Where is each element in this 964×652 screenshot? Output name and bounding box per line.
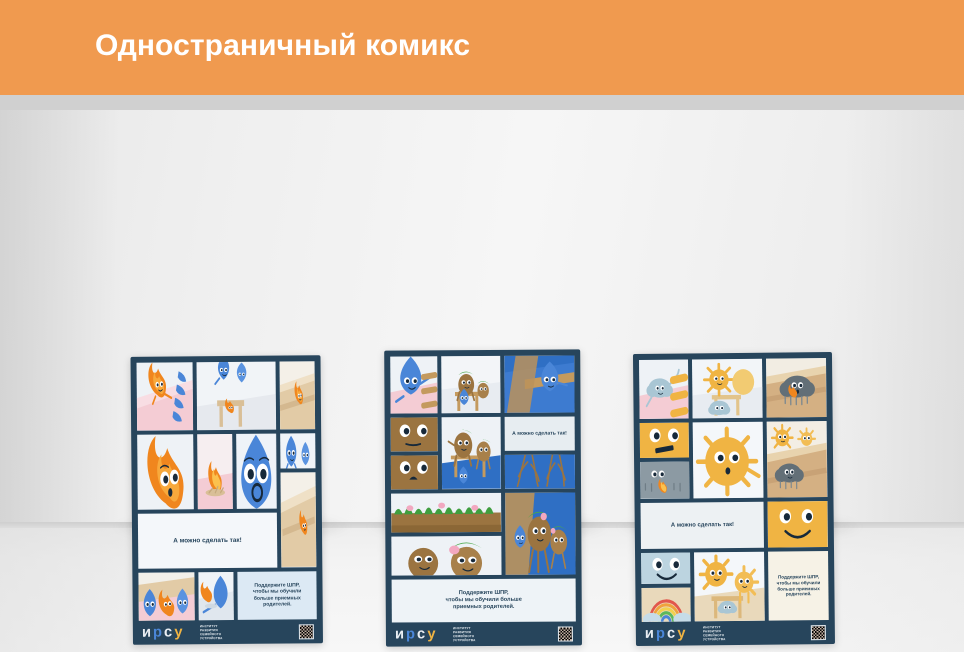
- poster-footer-3: и р с у Институт развитияСемейного устро…: [642, 620, 829, 646]
- comic-panel: [505, 492, 576, 575]
- header-divider: [0, 95, 964, 110]
- comic-panel: [692, 359, 763, 419]
- comic-speech-panel: А можно сделать так!: [641, 502, 765, 549]
- comic-panel: [279, 361, 315, 429]
- svg-text:р: р: [656, 626, 665, 642]
- comic-panel: [280, 433, 316, 469]
- comic-panel: [641, 587, 690, 622]
- comic-panel: [441, 356, 500, 414]
- wall-right-shadow: [844, 110, 964, 528]
- page-title: Одностраничный комикс: [95, 29, 470, 63]
- comic-panel: [137, 434, 194, 509]
- svg-text:и: и: [142, 625, 151, 641]
- speech-text: А можно сделать так!: [504, 417, 575, 451]
- brand-tagline-3: Институт развитияСемейного устройства: [703, 625, 731, 642]
- svg-text:р: р: [153, 625, 162, 641]
- irsu-logo-icon: и р с у: [142, 623, 195, 643]
- wall-left-shadow: [0, 110, 120, 528]
- comic-panel: [504, 355, 575, 413]
- brand-logo-3: и р с у Институт развитияСемейного устро…: [645, 623, 731, 643]
- cta-text: Поддержите ШПР, чтобы мы обучили больше …: [768, 551, 828, 621]
- comic-panel: [280, 472, 316, 567]
- comic-panel: [640, 422, 689, 458]
- comic-grid-2: А можно сделать так!: [390, 355, 576, 622]
- comic-panel: [391, 455, 438, 489]
- comic-speech-panel: А можно сделать так!: [138, 512, 277, 568]
- speech-text: А можно сделать так!: [138, 512, 277, 568]
- comic-panel: [766, 358, 826, 418]
- comic-panel: [639, 359, 689, 419]
- svg-text:у: у: [677, 626, 686, 642]
- comic-panel: [391, 493, 501, 533]
- brand-tagline-1: Институт развитияСемейного устройства: [200, 624, 228, 641]
- comic-panel: [197, 434, 233, 509]
- svg-text:с: с: [164, 625, 172, 641]
- cta-text: Поддержите ШПР, чтобы мы обучили больше …: [392, 579, 576, 623]
- qr-code-2[interactable]: [558, 626, 573, 641]
- comic-speech-panel: А можно сделать так!: [504, 417, 575, 451]
- comic-grid-1: А можно сделать так!: [137, 361, 317, 621]
- comic-panel: [236, 433, 276, 508]
- irsu-logo-icon: и р с у: [645, 624, 698, 644]
- poster-mockup-scene: А можно сделать так!: [0, 110, 964, 652]
- comic-panel: [138, 572, 194, 621]
- comic-panel: [391, 536, 501, 576]
- comic-cta-panel: Поддержите ШПР, чтобы мы обучили больше …: [768, 551, 828, 621]
- irsu-logo-icon: и р с у: [395, 625, 448, 644]
- comic-panel: [767, 421, 827, 498]
- comic-cta-panel: Поддержите ШПР, чтобы мы обучили больше …: [238, 571, 317, 620]
- comic-panel: [504, 455, 575, 489]
- poster-water-plant[interactable]: А можно сделать так!: [384, 349, 582, 646]
- svg-text:и: и: [645, 626, 654, 642]
- comic-panel: [198, 572, 234, 621]
- brand-logo-1: и р с у Институт развитияСемейного устро…: [142, 622, 228, 642]
- svg-text:и: и: [395, 627, 404, 643]
- brand-tagline-2: Институт развитияСемейного устройства: [453, 626, 481, 643]
- speech-text: А можно сделать так!: [641, 502, 765, 549]
- comic-panel: [768, 501, 828, 548]
- comic-panel: [694, 552, 765, 622]
- svg-text:у: у: [174, 625, 183, 641]
- comic-cta-panel: Поддержите ШПР, чтобы мы обучили больше …: [392, 579, 576, 623]
- qr-code-1[interactable]: [299, 624, 314, 639]
- comic-panel: [442, 417, 501, 489]
- comic-panel: [390, 356, 437, 414]
- poster-footer-1: и р с у Институт развитияСемейного устро…: [139, 619, 317, 645]
- poster-footer-2: и р с у Институт развитияСемейного устро…: [392, 621, 576, 646]
- svg-text:с: с: [667, 626, 675, 642]
- svg-text:с: с: [417, 627, 425, 643]
- cta-text: Поддержите ШПР, чтобы мы обучили больше …: [238, 571, 317, 620]
- brand-logo-2: и р с у Институт развитияСемейного устро…: [395, 624, 481, 644]
- poster-cloud-sun[interactable]: А можно сделать так!: [633, 352, 835, 646]
- comic-panel: [693, 422, 764, 499]
- poster-fire-water[interactable]: А можно сделать так!: [130, 355, 323, 645]
- comic-grid-3: А можно сделать так!: [639, 358, 829, 622]
- svg-text:у: у: [427, 627, 436, 643]
- comic-panel: [640, 462, 689, 499]
- comic-panel: [391, 418, 438, 452]
- comic-panel: [197, 362, 276, 430]
- qr-code-3[interactable]: [811, 625, 826, 640]
- comic-panel: [641, 553, 690, 584]
- comic-panel: [137, 362, 194, 430]
- svg-text:р: р: [406, 627, 415, 643]
